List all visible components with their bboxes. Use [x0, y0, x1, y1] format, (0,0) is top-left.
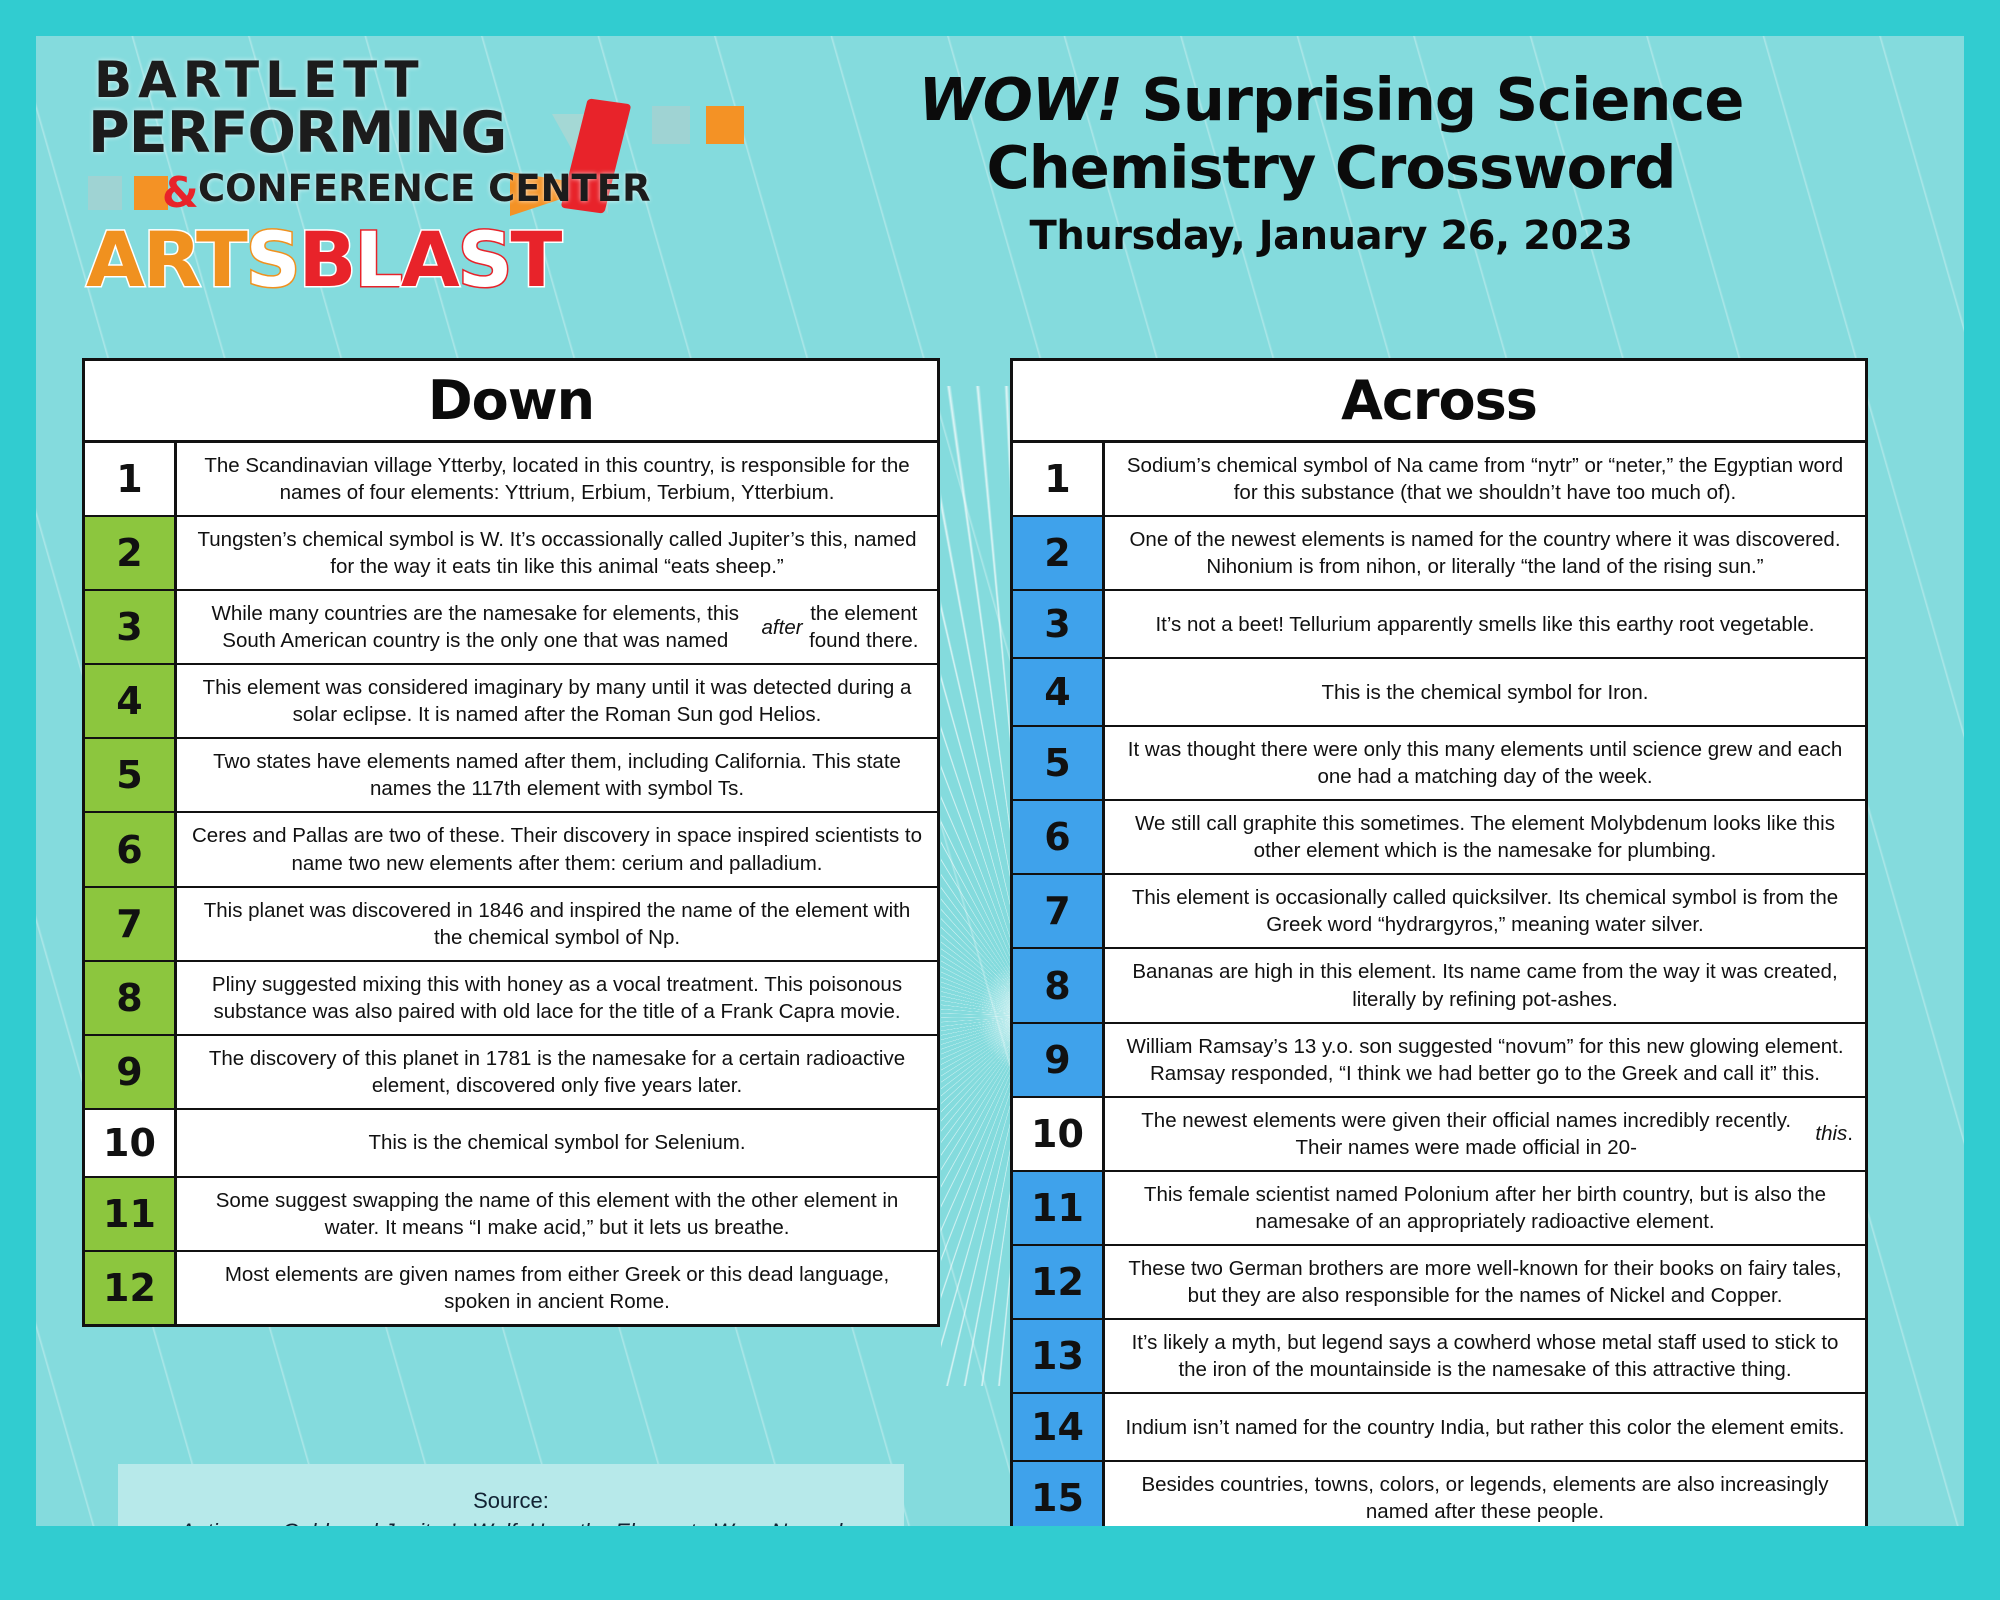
table-row: 12These two German brothers are more wel…: [1013, 1246, 1865, 1320]
table-row: 5It was thought there were only this man…: [1013, 727, 1865, 801]
table-row: 13It’s likely a myth, but legend says a …: [1013, 1320, 1865, 1394]
down-clue-text: The discovery of this planet in 1781 is …: [177, 1036, 937, 1108]
down-clue-text: Pliny suggested mixing this with honey a…: [177, 962, 937, 1034]
logo-line-bartlett: BARTLETT: [94, 58, 425, 103]
table-row: 6Ceres and Pallas are two of these. Thei…: [85, 813, 937, 887]
down-clue-number: 3: [85, 591, 177, 663]
down-clue-text: Tungsten’s chemical symbol is W. It’s oc…: [177, 517, 937, 589]
down-clue-text: Two states have elements named after the…: [177, 739, 937, 811]
source-box: Source: Antimony, Gold, and Jupiter’s Wo…: [118, 1464, 904, 1526]
across-clue-number: 6: [1013, 801, 1105, 873]
title-rest: Surprising Science: [1122, 65, 1744, 134]
table-row: 11Some suggest swapping the name of this…: [85, 1178, 937, 1252]
across-clue-text: This element is occasionally called quic…: [1105, 875, 1865, 947]
title-block: WOW! Surprising Science Chemistry Crossw…: [736, 66, 1926, 259]
across-clue-text: Bananas are high in this element. Its na…: [1105, 949, 1865, 1021]
table-row: 1The Scandinavian village Ytterby, locat…: [85, 443, 937, 517]
across-clue-number: 2: [1013, 517, 1105, 589]
table-row: 8Bananas are high in this element. Its n…: [1013, 949, 1865, 1023]
down-clue-number: 10: [85, 1110, 177, 1176]
logo-line-performing: PERFORMING: [88, 108, 506, 159]
poster-header: BARTLETT PERFORMING & CONFERENCE CENTER …: [36, 36, 1964, 356]
across-clue-text: Besides countries, towns, colors, or leg…: [1105, 1462, 1865, 1526]
down-clue-number: 12: [85, 1252, 177, 1324]
across-clue-number: 12: [1013, 1246, 1105, 1318]
down-table-heading: Down: [85, 361, 937, 443]
across-clue-number: 7: [1013, 875, 1105, 947]
across-clue-text: Sodium’s chemical symbol of Na came from…: [1105, 443, 1865, 515]
table-row: 10This is the chemical symbol for Seleni…: [85, 1110, 937, 1178]
across-clue-number: 14: [1013, 1394, 1105, 1460]
down-clue-text: This is the chemical symbol for Selenium…: [177, 1110, 937, 1176]
across-clue-number: 4: [1013, 659, 1105, 725]
across-clue-text: Indium isn’t named for the country India…: [1105, 1394, 1865, 1460]
down-clue-text: This element was considered imaginary by…: [177, 665, 937, 737]
teal-panel: BARTLETT PERFORMING & CONFERENCE CENTER …: [36, 36, 1964, 1526]
logo-square-teal-right: [652, 106, 690, 144]
across-table-heading: Across: [1013, 361, 1865, 443]
table-row: 7This planet was discovered in 1846 and …: [85, 888, 937, 962]
down-clue-text: This planet was discovered in 1846 and i…: [177, 888, 937, 960]
across-clue-number: 8: [1013, 949, 1105, 1021]
down-clues-table: Down 1The Scandinavian village Ytterby, …: [82, 358, 940, 1327]
across-heading-label: Across: [1341, 369, 1537, 432]
across-clue-number: 1: [1013, 443, 1105, 515]
table-row: 6We still call graphite this sometimes. …: [1013, 801, 1865, 875]
table-row: 9William Ramsay’s 13 y.o. son suggested …: [1013, 1024, 1865, 1098]
across-clue-number: 13: [1013, 1320, 1105, 1392]
across-clue-text: It was thought there were only this many…: [1105, 727, 1865, 799]
table-row: 4This element was considered imaginary b…: [85, 665, 937, 739]
across-clue-text: One of the newest elements is named for …: [1105, 517, 1865, 589]
down-clue-number: 2: [85, 517, 177, 589]
down-clue-number: 6: [85, 813, 177, 885]
source-title: Antimony, Gold, and Jupiter’s Wolf: How …: [180, 1517, 842, 1526]
down-clue-text: Most elements are given names from eithe…: [177, 1252, 937, 1324]
title-line-2: Chemistry Crossword: [987, 133, 1676, 202]
poster-root: BARTLETT PERFORMING & CONFERENCE CENTER …: [0, 0, 2000, 1600]
across-clue-number: 9: [1013, 1024, 1105, 1096]
down-clue-number: 5: [85, 739, 177, 811]
down-clue-text: The Scandinavian village Ytterby, locate…: [177, 443, 937, 515]
across-clue-text: This female scientist named Polonium aft…: [1105, 1172, 1865, 1244]
title-emphasis: WOW!: [919, 65, 1122, 134]
across-clue-number: 11: [1013, 1172, 1105, 1244]
down-clue-number: 11: [85, 1178, 177, 1250]
across-clues-table: Across 1Sodium’s chemical symbol of Na c…: [1010, 358, 1868, 1526]
across-clue-number: 5: [1013, 727, 1105, 799]
table-row: 3It’s not a beet! Tellurium apparently s…: [1013, 591, 1865, 659]
bartlett-logo: BARTLETT PERFORMING & CONFERENCE CENTER …: [58, 54, 758, 344]
table-row: 11This female scientist named Polonium a…: [1013, 1172, 1865, 1246]
down-clue-number: 7: [85, 888, 177, 960]
down-clue-text: Ceres and Pallas are two of these. Their…: [177, 813, 937, 885]
down-clue-number: 8: [85, 962, 177, 1034]
table-row: 1Sodium’s chemical symbol of Na came fro…: [1013, 443, 1865, 517]
across-clue-text: The newest elements were given their off…: [1105, 1098, 1865, 1170]
table-row: 5Two states have elements named after th…: [85, 739, 937, 813]
table-row: 3While many countries are the namesake f…: [85, 591, 937, 665]
table-row: 2One of the newest elements is named for…: [1013, 517, 1865, 591]
table-row: 4This is the chemical symbol for Iron.: [1013, 659, 1865, 727]
across-clue-text: This is the chemical symbol for Iron.: [1105, 659, 1865, 725]
table-row: 2Tungsten’s chemical symbol is W. It’s o…: [85, 517, 937, 591]
table-row: 14Indium isn’t named for the country Ind…: [1013, 1394, 1865, 1462]
down-rows-container: 1The Scandinavian village Ytterby, locat…: [85, 443, 937, 1324]
page-title: WOW! Surprising Science Chemistry Crossw…: [736, 66, 1926, 203]
across-clue-number: 3: [1013, 591, 1105, 657]
table-row: 8Pliny suggested mixing this with honey …: [85, 962, 937, 1036]
across-clue-text: It’s not a beet! Tellurium apparently sm…: [1105, 591, 1865, 657]
across-clue-text: These two German brothers are more well-…: [1105, 1246, 1865, 1318]
event-date: Thursday, January 26, 2023: [736, 213, 1926, 259]
across-clue-text: William Ramsay’s 13 y.o. son suggested “…: [1105, 1024, 1865, 1096]
down-clue-number: 9: [85, 1036, 177, 1108]
across-clue-text: It’s likely a myth, but legend says a co…: [1105, 1320, 1865, 1392]
down-heading-label: Down: [428, 369, 594, 432]
logo-square-teal: [88, 176, 122, 210]
table-row: 10The newest elements were given their o…: [1013, 1098, 1865, 1172]
logo-ampersand: &: [162, 168, 199, 217]
across-clue-number: 10: [1013, 1098, 1105, 1170]
source-label: Source:: [473, 1486, 549, 1516]
logo-line-conference-center: CONFERENCE CENTER: [198, 172, 651, 205]
down-clue-number: 4: [85, 665, 177, 737]
down-clue-text: While many countries are the namesake fo…: [177, 591, 937, 663]
down-clue-number: 1: [85, 443, 177, 515]
down-clue-text: Some suggest swapping the name of this e…: [177, 1178, 937, 1250]
across-clue-text: We still call graphite this sometimes. T…: [1105, 801, 1865, 873]
across-clue-number: 15: [1013, 1462, 1105, 1526]
table-row: 9The discovery of this planet in 1781 is…: [85, 1036, 937, 1110]
across-rows-container: 1Sodium’s chemical symbol of Na came fro…: [1013, 443, 1865, 1526]
table-row: 7This element is occasionally called qui…: [1013, 875, 1865, 949]
artsblast-wordmark: ARTSBLAST: [86, 222, 560, 298]
table-row: 15Besides countries, towns, colors, or l…: [1013, 1462, 1865, 1526]
table-row: 12Most elements are given names from eit…: [85, 1252, 937, 1324]
